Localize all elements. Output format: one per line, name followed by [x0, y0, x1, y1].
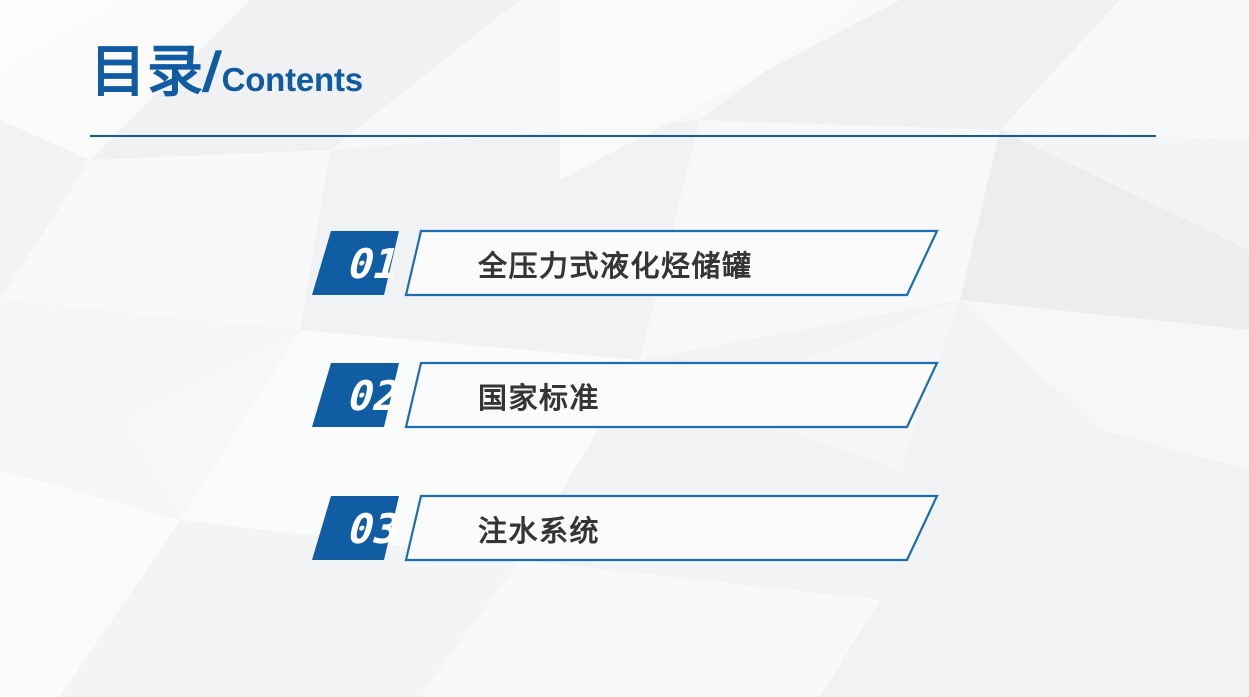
item-label-02: 国家标准	[478, 366, 600, 426]
page-title-cn: 目录	[90, 45, 204, 101]
list-item[interactable]: 02 国家标准	[300, 356, 960, 436]
number-badge-shape-01	[312, 231, 399, 295]
item-shape-02	[300, 356, 960, 436]
list-item[interactable]: 01 全压力式液化烃储罐	[300, 224, 960, 304]
item-label-01: 全压力式液化烃储罐	[478, 234, 753, 294]
list-item[interactable]: 03 注水系统	[300, 489, 960, 569]
slide-canvas: 目录 / Contents 01 全压力式液化烃储罐 02 国家标准	[0, 0, 1249, 697]
page-title-en: Contents	[222, 63, 363, 96]
page-title: 目录 / Contents	[90, 44, 363, 101]
heading-divider	[90, 135, 1156, 137]
number-badge-shape-03	[312, 496, 399, 560]
item-shape-03	[300, 489, 960, 569]
item-label-03: 注水系统	[478, 499, 600, 559]
number-badge-shape-02	[312, 363, 399, 427]
